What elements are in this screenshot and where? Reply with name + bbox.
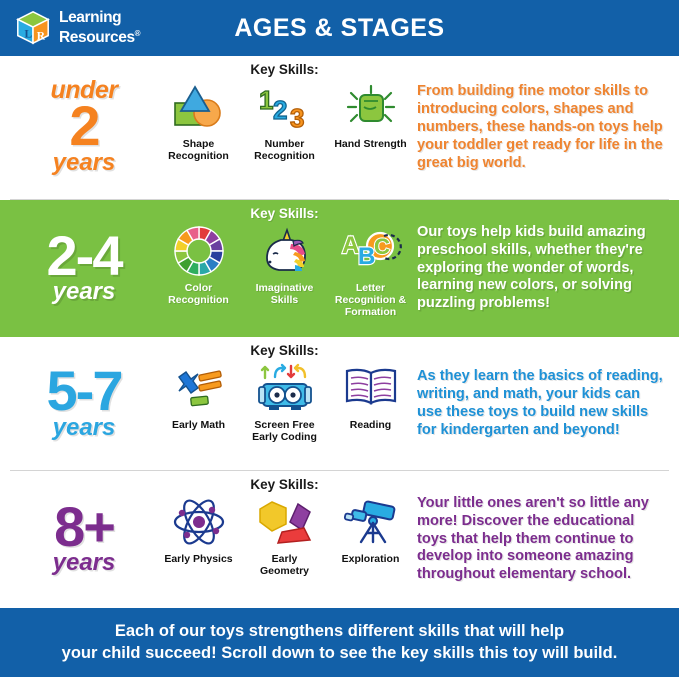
skill-exploration: Exploration: [332, 494, 410, 565]
color-wheel-icon: [173, 223, 225, 279]
age-unit: years: [10, 152, 158, 173]
skills-column-5-7: Key Skills: Early Math: [158, 337, 411, 471]
skill-number-recognition: 1 2 3 NumberRecognition: [246, 79, 324, 162]
key-skills-heading: Key Skills:: [250, 62, 318, 77]
numbers-123-icon: 1 2 3: [257, 79, 313, 135]
key-skills-heading: Key Skills:: [250, 206, 318, 221]
skill-label: ImaginativeSkills: [256, 282, 314, 306]
section-2-4: 2-4 years Key Skills:: [0, 200, 679, 337]
skill-label: Exploration: [342, 553, 400, 565]
shapes-icon: [171, 79, 227, 135]
skill-label: NumberRecognition: [254, 138, 315, 162]
open-book-icon: [343, 360, 399, 416]
section-description: From building fine motor skills to intro…: [411, 83, 667, 173]
header-bar: L R Learning Resources® AGES & STAGES: [0, 0, 679, 56]
section-8-plus: 8+ years Key Skills:: [0, 471, 679, 608]
brand-wordmark: Learning Resources®: [59, 10, 140, 45]
section-description: Your little ones aren't so little any mo…: [411, 495, 667, 585]
age-unit: years: [10, 552, 158, 573]
learning-resources-cube-icon: L R: [14, 9, 52, 47]
skills-column-8-plus: Key Skills:: [158, 471, 411, 608]
skill-shape-recognition: ShapeRecognition: [160, 79, 238, 162]
age-unit: years: [10, 417, 158, 438]
skill-reading: Reading: [332, 360, 410, 431]
atom-icon: [172, 494, 226, 550]
skill-letter-recognition: A A B B C C LetterRecognition &Formation: [332, 223, 410, 319]
brand-logo: L R Learning Resources®: [14, 9, 140, 47]
svg-text:A: A: [342, 232, 359, 259]
skill-color-recognition: ColorRecognition: [160, 223, 238, 306]
svg-text:C: C: [374, 234, 390, 259]
registered-mark: ®: [135, 29, 141, 38]
svg-text:3: 3: [290, 103, 304, 131]
skill-label: Early Math: [172, 419, 225, 431]
skill-label: EarlyGeometry: [260, 553, 309, 577]
skill-label: Reading: [350, 419, 391, 431]
age-number: 5-7: [10, 366, 158, 415]
skill-imaginative-skills: ImaginativeSkills: [246, 223, 324, 306]
svg-text:2: 2: [273, 95, 287, 125]
skills-row: Early Math: [158, 360, 411, 443]
coding-robot-icon: [255, 360, 315, 416]
section-under-2: under 2 years Key Skills: ShapeRecogniti…: [0, 56, 679, 200]
section-description: As they learn the basics of reading, wri…: [411, 368, 667, 440]
age-number: 2-4: [10, 231, 158, 280]
skill-early-geometry: EarlyGeometry: [246, 494, 324, 577]
footer-line-1: Each of our toys strengthens different s…: [115, 621, 564, 643]
age-label-5-7: 5-7 years: [10, 366, 158, 441]
key-skills-heading: Key Skills:: [250, 477, 318, 492]
footer-line-2: your child succeed! Scroll down to see t…: [62, 643, 618, 665]
skill-early-physics: Early Physics: [160, 494, 238, 565]
age-label-8-plus: 8+ years: [10, 502, 158, 577]
geometry-shapes-icon: [256, 494, 314, 550]
abc-letters-icon: A A B B C C: [340, 223, 402, 279]
age-unit: years: [10, 281, 158, 302]
brand-line-2: Resources®: [59, 26, 140, 46]
skill-label: ShapeRecognition: [168, 138, 229, 162]
svg-text:B: B: [358, 243, 375, 270]
skill-hand-strength: Hand Strength: [332, 79, 410, 150]
skill-label: Hand Strength: [334, 138, 406, 150]
skill-label: ColorRecognition: [168, 282, 229, 306]
math-symbols-icon: [171, 360, 227, 416]
section-description: Our toys help kids build amazing prescho…: [411, 224, 667, 314]
skill-label: Screen FreeEarly Coding: [252, 419, 317, 443]
age-label-2-4: 2-4 years: [10, 231, 158, 306]
skills-row: ColorRecognition: [158, 223, 411, 319]
ages-and-stages-infographic: L R Learning Resources® AGES & STAGES un…: [0, 0, 679, 677]
skills-column-2-4: Key Skills:: [158, 200, 411, 337]
svg-text:R: R: [37, 30, 46, 42]
skill-early-coding: Screen FreeEarly Coding: [246, 360, 324, 443]
telescope-icon: [342, 494, 400, 550]
skill-label: Early Physics: [164, 553, 232, 565]
skill-early-math: Early Math: [160, 360, 238, 431]
skills-row: ShapeRecognition 1 2 3 NumberRecognition: [158, 79, 411, 162]
skills-row: Early Physics EarlyGeometry: [158, 494, 411, 577]
section-5-7: 5-7 years Key Skills: Early Math: [0, 337, 679, 471]
svg-text:L: L: [24, 29, 32, 41]
age-number: 2: [10, 101, 158, 150]
footer-banner: Each of our toys strengthens different s…: [0, 608, 679, 677]
skill-label: LetterRecognition &Formation: [335, 282, 406, 319]
fist-hand-strength-icon: [343, 79, 399, 135]
skills-column-under-2: Key Skills: ShapeRecognition: [158, 56, 411, 200]
age-number: 8+: [10, 502, 158, 551]
svg-text:1: 1: [259, 85, 273, 115]
key-skills-heading: Key Skills:: [250, 343, 318, 358]
unicorn-icon: [257, 223, 313, 279]
brand-line-1: Learning: [59, 10, 140, 26]
age-label-under-2: under 2 years: [10, 79, 158, 176]
